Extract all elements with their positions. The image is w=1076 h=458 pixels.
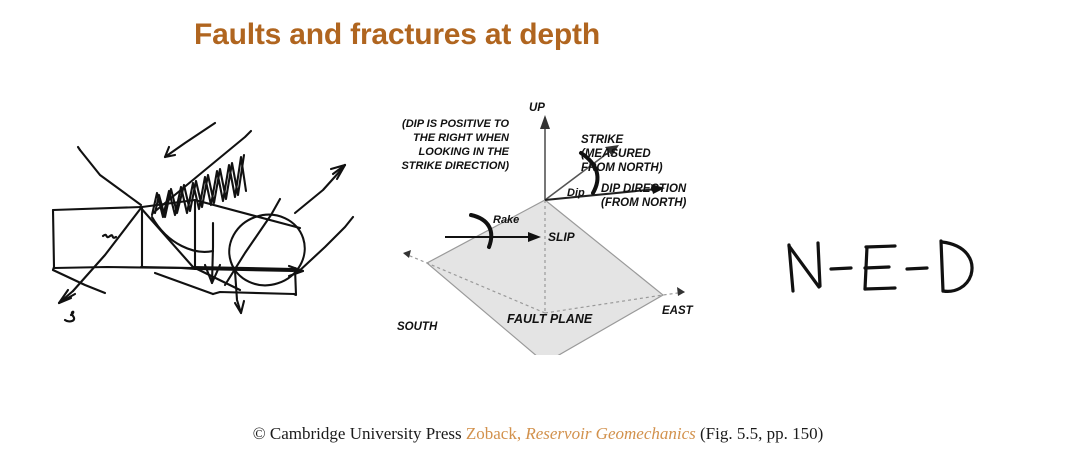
vector-label-slip: SLIP xyxy=(548,230,576,244)
diagram-note-line-4: STRIKE DIRECTION) xyxy=(401,160,509,172)
vector-label-strike: STRIKE xyxy=(581,134,624,146)
vector-sublabel-strike-line2: FROM NORTH) xyxy=(581,162,663,174)
angle-label-dip: Dip xyxy=(567,187,585,199)
fault-plane-geometry-diagram: UP STRIKE (MEASURED FROM NORTH) DIP DIRE… xyxy=(385,95,715,355)
credit-copyright: © Cambridge University Press xyxy=(253,424,462,443)
axis-up xyxy=(540,115,550,200)
ned-svg xyxy=(775,225,985,325)
handwritten-ned-annotation xyxy=(775,225,985,325)
diagram-note-line-3: LOOKING IN THE xyxy=(419,146,510,158)
page-title: Faults and fractures at depth xyxy=(0,18,935,52)
fault-plane-polygon xyxy=(427,200,663,355)
sketch-ink-strokes xyxy=(53,123,353,313)
axis-label-east: EAST xyxy=(662,305,694,317)
credit-author: Zoback, xyxy=(466,424,521,443)
diagram-note-line-2: THE RIGHT WHEN xyxy=(413,132,510,144)
slide-canvas: Faults and fractures at depth xyxy=(0,0,1076,458)
diagram-note-line-1: (DIP IS POSITIVE TO xyxy=(402,118,509,130)
axis-label-up: UP xyxy=(529,102,545,114)
hand-drawn-fault-block-sketch xyxy=(45,95,375,345)
plane-label-fault-plane: FAULT PLANE xyxy=(507,312,593,326)
vector-sublabel-strike-line1: (MEASURED xyxy=(581,148,651,160)
vector-sublabel-dip-direction: (FROM NORTH) xyxy=(601,197,687,209)
credit-line: © Cambridge University Press Zoback, Res… xyxy=(0,424,1076,444)
fault-plane-svg: UP STRIKE (MEASURED FROM NORTH) DIP DIRE… xyxy=(385,95,715,355)
credit-figure-ref: (Fig. 5.5, pp. 150) xyxy=(700,424,823,443)
vector-label-dip-direction: DIP DIRECTION xyxy=(601,183,687,195)
ned-ink-strokes xyxy=(789,241,972,291)
sketch-svg xyxy=(45,95,375,345)
axis-label-south: SOUTH xyxy=(397,321,438,333)
credit-book-title: Reservoir Geomechanics xyxy=(525,424,695,443)
angle-label-rake: Rake xyxy=(493,214,519,226)
